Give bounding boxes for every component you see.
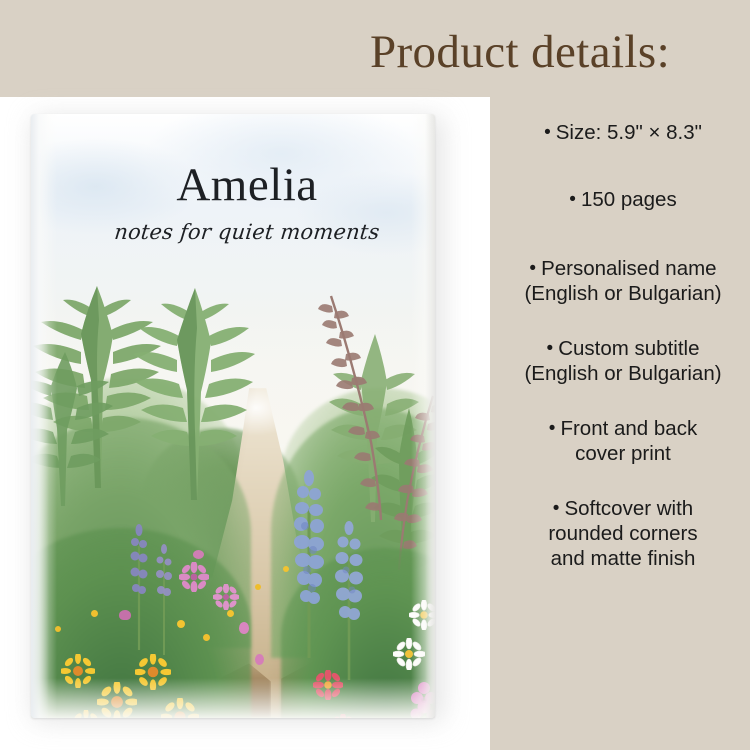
lupine-spike-tall bbox=[289, 462, 329, 667]
list-item-text: (English or Bulgarian) bbox=[498, 361, 748, 386]
product-listing-image: Product details: •Size: 5.9" × 8.3" •150… bbox=[0, 0, 750, 750]
pink-flower bbox=[179, 562, 209, 597]
pink-bud bbox=[255, 654, 264, 665]
bullet-icon: • bbox=[547, 338, 554, 359]
bullet-icon: • bbox=[553, 498, 560, 519]
bullet-icon: • bbox=[549, 418, 556, 439]
list-item: •Size: 5.9" × 8.3" bbox=[498, 120, 748, 145]
pink-flower bbox=[213, 584, 239, 615]
list-item: •150 pages bbox=[498, 187, 748, 212]
lavender-spike-left bbox=[127, 522, 151, 657]
yellow-bud bbox=[177, 620, 185, 628]
list-item-text: 150 pages bbox=[581, 188, 677, 211]
product-details-list: •Size: 5.9" × 8.3" •150 pages •Personali… bbox=[498, 120, 748, 571]
bullet-icon: • bbox=[569, 189, 576, 210]
list-item: •Personalised name (English or Bulgarian… bbox=[498, 256, 748, 306]
bullet-icon: • bbox=[529, 258, 536, 279]
list-item: •Softcover with rounded corners and matt… bbox=[498, 496, 748, 571]
cover-title: Amelia bbox=[31, 158, 435, 212]
artwork-bottom-fade bbox=[31, 678, 435, 718]
cover-subtitle: notes for quiet moments bbox=[31, 218, 435, 246]
list-item: •Custom subtitle (English or Bulgarian) bbox=[498, 336, 748, 386]
list-item-text: Front and back bbox=[560, 417, 697, 440]
fern-large-center bbox=[125, 272, 265, 502]
bullet-icon: • bbox=[544, 122, 551, 143]
list-item-text: rounded corners bbox=[498, 521, 748, 546]
lavender-spike-left-2 bbox=[153, 542, 175, 662]
list-item: •Front and back cover print bbox=[498, 416, 748, 466]
yellow-bud bbox=[255, 584, 261, 590]
lupine-spike-mid bbox=[331, 514, 367, 689]
page-title: Product details: bbox=[300, 24, 740, 80]
list-item-text: Custom subtitle bbox=[558, 337, 699, 360]
list-item-text: Size: 5.9" × 8.3" bbox=[556, 121, 702, 144]
pink-bud bbox=[193, 550, 204, 559]
list-item-text: cover print bbox=[498, 441, 748, 466]
yellow-bud bbox=[91, 610, 98, 617]
list-item-text: and matte finish bbox=[498, 546, 748, 571]
list-item-text: Personalised name bbox=[541, 257, 717, 280]
notebook-cover: Amelia notes for quiet moments bbox=[31, 114, 435, 718]
pink-bud bbox=[239, 622, 249, 634]
list-item-text: Softcover with bbox=[564, 497, 693, 520]
yellow-bud bbox=[203, 634, 210, 641]
yellow-bud bbox=[283, 566, 289, 572]
pink-bud bbox=[119, 610, 131, 620]
list-item-text: (English or Bulgarian) bbox=[498, 281, 748, 306]
